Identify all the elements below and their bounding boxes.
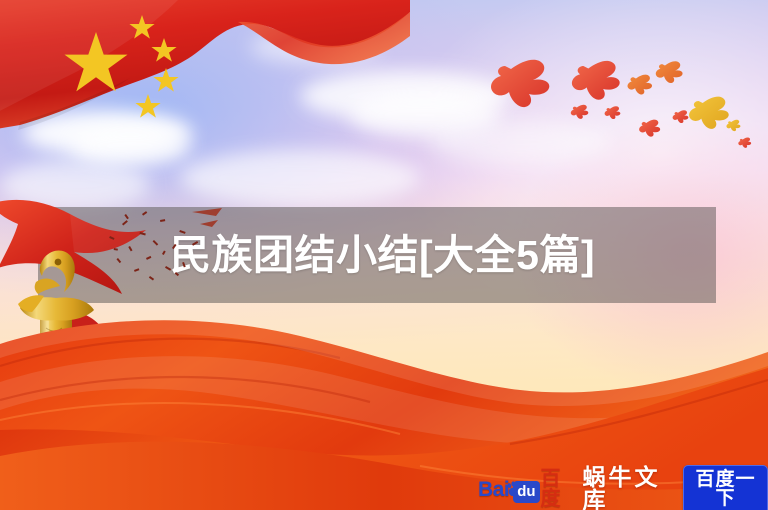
site-name: 蜗牛文库 [583, 466, 667, 510]
baidu-logo-latin: Bai [478, 479, 509, 500]
footer-brand-bar: Bai du 百度 蜗牛文库 百度一下 [478, 472, 768, 506]
poster-image: 民族团结小结[大全5篇] [0, 0, 768, 510]
chinese-national-flag-icon [0, 0, 410, 144]
flock-of-doves-icon [485, 44, 765, 164]
baidu-logo[interactable]: Bai du 百度 [478, 476, 567, 502]
baidu-search-button[interactable]: 百度一下 [683, 465, 768, 510]
baidu-logo-chinese: 百度 [541, 469, 567, 509]
cloud [180, 150, 420, 206]
baidu-logo-du: du [513, 481, 539, 503]
